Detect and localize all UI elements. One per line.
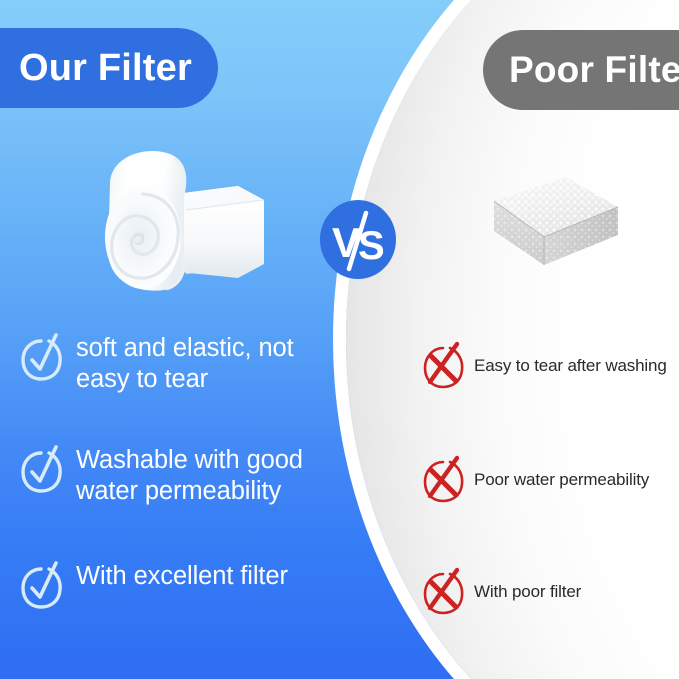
list-item-label: Washable with good water permeability	[76, 442, 348, 507]
list-item: With excellent filter	[18, 558, 348, 610]
list-item: Poor water permeability	[420, 454, 672, 504]
cross-circle-icon	[420, 454, 466, 504]
list-item: Washable with good water permeability	[18, 442, 348, 507]
list-item-label: soft and elastic, not easy to tear	[76, 330, 348, 395]
list-item-label: With poor filter	[474, 581, 581, 602]
our-filter-badge: Our Filter	[0, 28, 218, 108]
list-item: With poor filter	[420, 566, 672, 616]
poor-filter-badge: Poor Filter	[483, 30, 679, 110]
cross-circle-icon	[420, 340, 466, 390]
list-item-label: With excellent filter	[76, 558, 288, 592]
cross-circle-icon	[420, 566, 466, 616]
check-circle-icon	[18, 560, 64, 610]
foam-pad-image	[482, 165, 628, 295]
comparison-infographic: Our Filter Poor Filter V S soft and elas…	[0, 0, 679, 679]
list-item: soft and elastic, not easy to tear	[18, 330, 348, 395]
vs-icon: V S	[320, 200, 396, 279]
our-filter-label: Our Filter	[19, 47, 192, 90]
check-circle-icon	[18, 444, 64, 494]
list-item: Easy to tear after washing	[420, 340, 672, 390]
filter-roll-image	[88, 138, 274, 296]
check-circle-icon	[18, 332, 64, 382]
list-item-label: Easy to tear after washing	[474, 355, 667, 376]
vs-badge: V S	[320, 200, 396, 279]
list-item-label: Poor water permeability	[474, 469, 649, 490]
poor-filter-label: Poor Filter	[509, 49, 679, 91]
